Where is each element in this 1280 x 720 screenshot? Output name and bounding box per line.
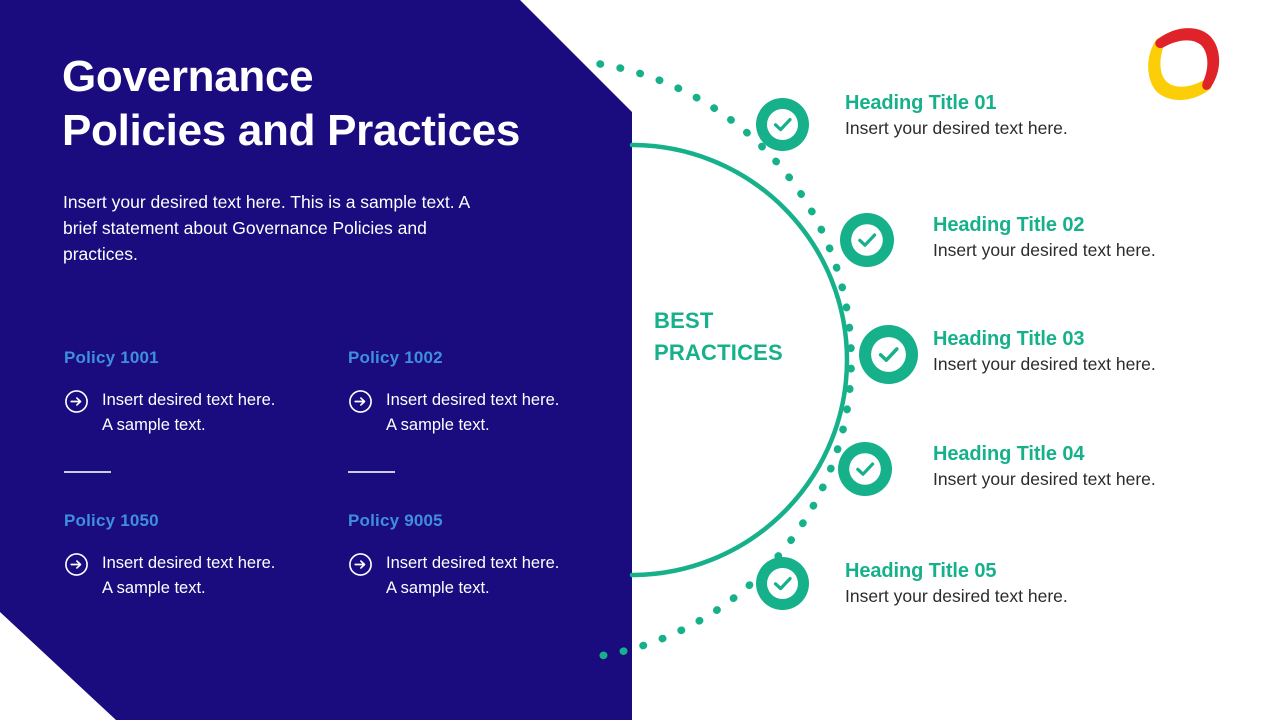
policy-cell-1050[interactable]: Policy 1050 Insert desired text here. A …	[64, 511, 348, 601]
policy-grid: Policy 1001 Insert desired text here. A …	[64, 348, 604, 601]
check-circle-icon[interactable]	[840, 213, 894, 272]
arrow-circle-icon	[348, 552, 373, 577]
arrow-circle-icon	[64, 552, 89, 577]
policy-row: Insert desired text here. A sample text.	[348, 551, 604, 601]
policy-title: Policy 1050	[64, 511, 348, 531]
page-title: Governance Policies and Practices	[62, 50, 602, 157]
policy-row: Insert desired text here. A sample text.	[64, 551, 348, 601]
policy-row: Insert desired text here. A sample text.	[348, 388, 604, 438]
arrow-circle-icon	[64, 389, 89, 414]
step-item-05[interactable]: Heading Title 05 Insert your desired tex…	[845, 560, 1068, 607]
title-line-1: Governance	[62, 50, 602, 104]
step-heading: Heading Title 04	[933, 443, 1156, 466]
step-item-03[interactable]: Heading Title 03 Insert your desired tex…	[933, 328, 1156, 375]
check-circle-icon[interactable]	[756, 557, 809, 615]
policy-text: Insert desired text here. A sample text.	[386, 551, 566, 601]
step-item-02[interactable]: Heading Title 02 Insert your desired tex…	[933, 214, 1156, 261]
policy-divider	[348, 471, 395, 473]
policy-divider	[64, 471, 111, 473]
policy-title: Policy 1002	[348, 348, 604, 368]
title-line-2: Policies and Practices	[62, 104, 602, 158]
check-circle-icon[interactable]	[859, 325, 918, 389]
check-circle-icon[interactable]	[756, 98, 809, 156]
step-item-04[interactable]: Heading Title 04 Insert your desired tex…	[933, 443, 1156, 490]
step-item-01[interactable]: Heading Title 01 Insert your desired tex…	[845, 92, 1068, 139]
check-circle-icon[interactable]	[838, 442, 892, 501]
policy-text: Insert desired text here. A sample text.	[102, 388, 282, 438]
intro-paragraph: Insert your desired text here. This is a…	[63, 190, 495, 268]
best-practices-line-1: BEST	[654, 305, 783, 337]
slide-canvas: Governance Policies and Practices Insert…	[0, 0, 1280, 720]
step-heading: Heading Title 03	[933, 328, 1156, 351]
step-description: Insert your desired text here.	[933, 240, 1156, 261]
policy-title: Policy 9005	[348, 511, 604, 531]
step-heading: Heading Title 05	[845, 560, 1068, 583]
policy-text: Insert desired text here. A sample text.	[386, 388, 566, 438]
policy-cell-1001[interactable]: Policy 1001 Insert desired text here. A …	[64, 348, 348, 511]
step-description: Insert your desired text here.	[845, 586, 1068, 607]
brand-logo-icon	[1146, 24, 1222, 104]
policy-title: Policy 1001	[64, 348, 348, 368]
policy-text: Insert desired text here. A sample text.	[102, 551, 282, 601]
step-heading: Heading Title 02	[933, 214, 1156, 237]
arrow-circle-icon	[348, 389, 373, 414]
step-description: Insert your desired text here.	[933, 354, 1156, 375]
best-practices-label: BEST PRACTICES	[654, 305, 783, 369]
policy-cell-9005[interactable]: Policy 9005 Insert desired text here. A …	[348, 511, 604, 601]
step-description: Insert your desired text here.	[933, 469, 1156, 490]
step-description: Insert your desired text here.	[845, 118, 1068, 139]
best-practices-line-2: PRACTICES	[654, 337, 783, 369]
policy-row: Insert desired text here. A sample text.	[64, 388, 348, 438]
step-heading: Heading Title 01	[845, 92, 1068, 115]
policy-cell-1002[interactable]: Policy 1002 Insert desired text here. A …	[348, 348, 604, 511]
